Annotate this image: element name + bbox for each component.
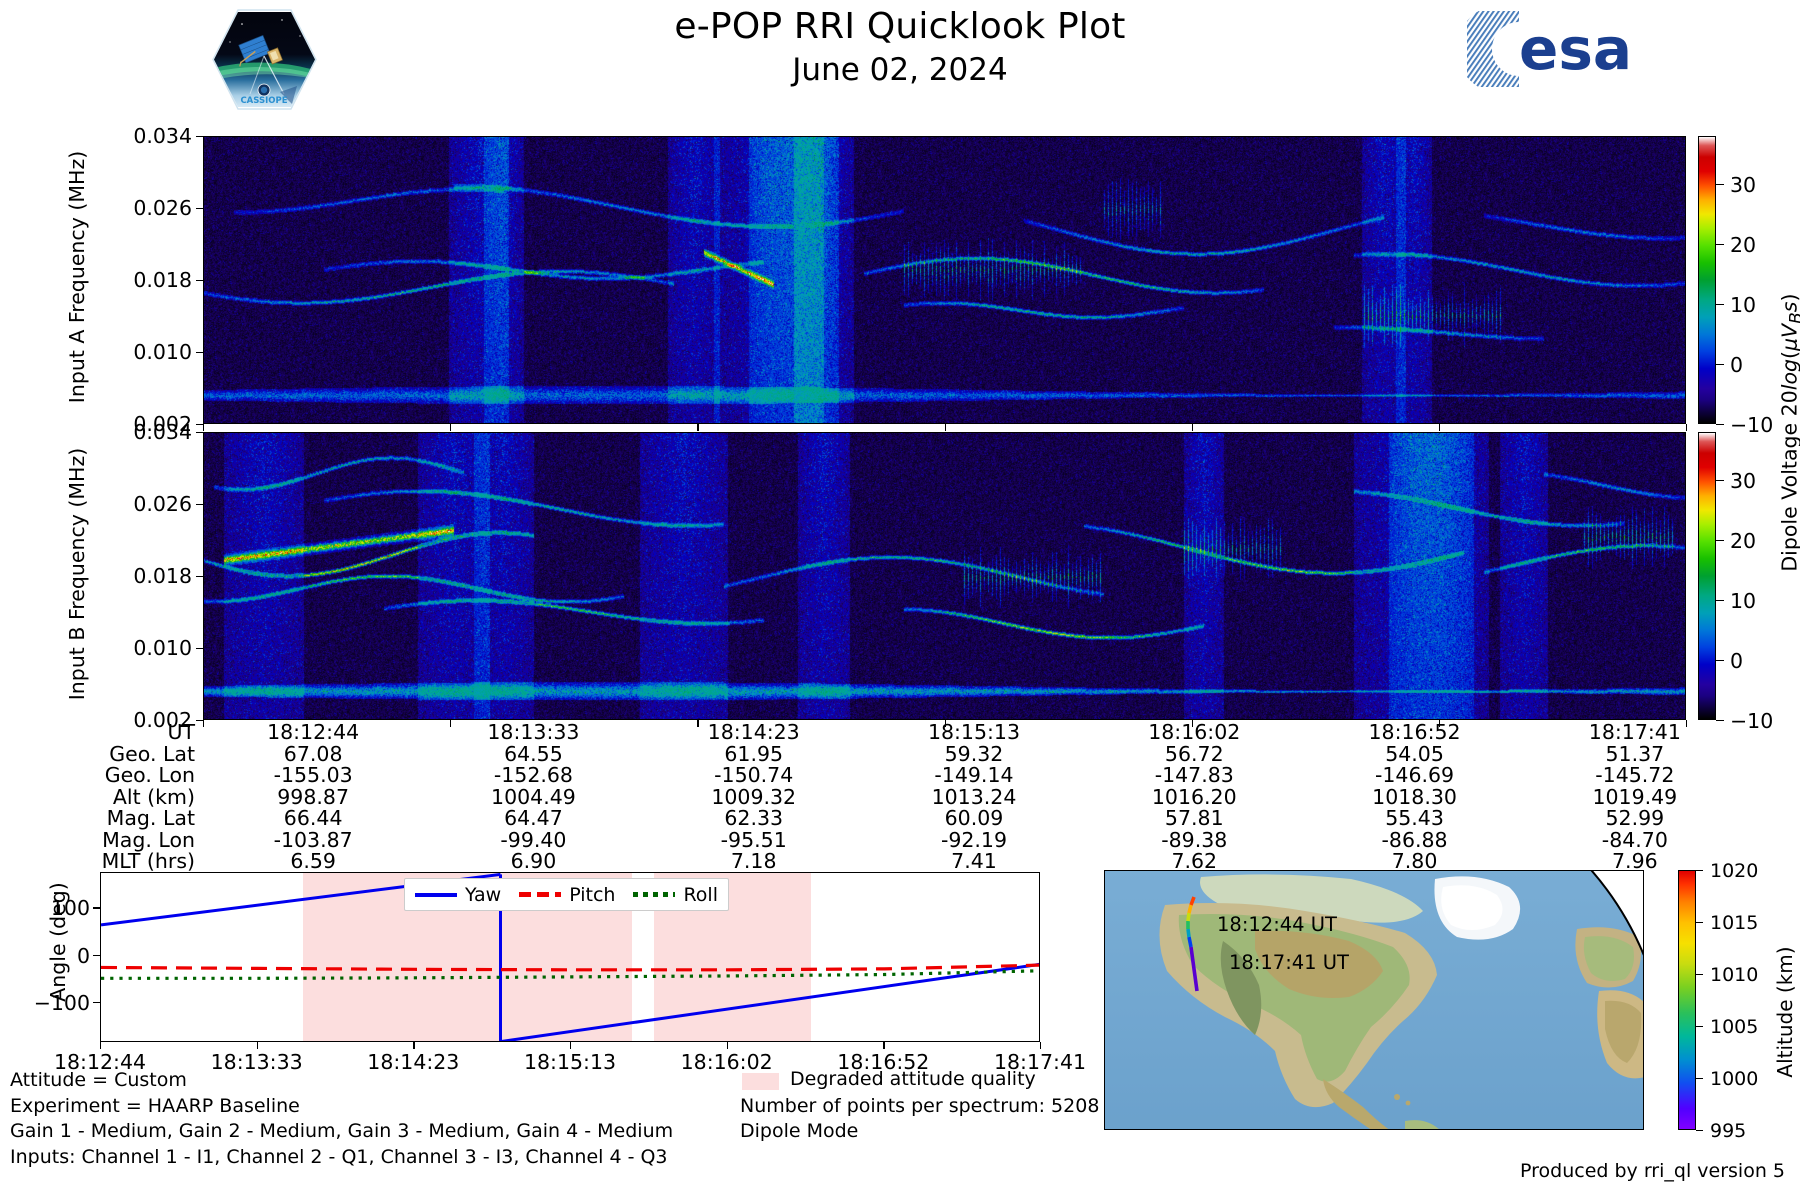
spec-a-xtickmark	[450, 424, 451, 431]
ephemeris-cell: 64.47	[423, 808, 643, 830]
ephemeris-row-label: MLT (hrs)	[0, 851, 203, 873]
colorbar-b-tick-mark	[1716, 720, 1724, 721]
spec-a-xtickmark	[1192, 424, 1193, 431]
ephemeris-cell: 1013.24	[864, 787, 1084, 809]
ephemeris-cell: 998.87	[203, 787, 423, 809]
ephemeris-row-label: Mag. Lon	[0, 830, 203, 852]
spec-a-ytickmark	[196, 352, 203, 353]
ephemeris-cell: 55.43	[1304, 808, 1524, 830]
legend-item-yaw: Yaw	[415, 884, 501, 906]
ephemeris-cell: 52.99	[1525, 808, 1745, 830]
colorbar-a-tick-mark	[1716, 364, 1724, 365]
ephemeris-cell: 66.44	[203, 808, 423, 830]
attitude-ytick-mark	[93, 1002, 100, 1003]
ephemeris-cell: -146.69	[1304, 765, 1524, 787]
attitude-xtick-label: 18:17:41	[970, 1050, 1110, 1074]
ephemeris-row: Mag. Lon-103.87-99.40-95.51-92.19-89.38-…	[0, 830, 1745, 852]
altitude-tick-mark	[1696, 974, 1703, 975]
footer-line: Number of points per spectrum: 5208	[740, 1094, 1099, 1120]
ephemeris-cell: -145.72	[1525, 765, 1745, 787]
attitude-ytick-mark	[93, 907, 100, 908]
ephemeris-cell: 18:13:33	[423, 722, 643, 744]
attitude-xtick-label: 18:12:44	[30, 1050, 170, 1074]
ephemeris-cell: 61.95	[644, 744, 864, 766]
input-a-spectrogram	[203, 136, 1686, 424]
ephemeris-cell: 18:15:13	[864, 722, 1084, 744]
spec-b-ytick: 0.018	[100, 566, 192, 587]
legend-label-pitch: Pitch	[569, 884, 615, 906]
footer-line: Experiment = HAARP Baseline	[10, 1094, 673, 1120]
footer-line: Dipole Mode	[740, 1119, 1099, 1145]
colorbar-a-tick-label: 20	[1730, 233, 1756, 257]
spec-b-xtickmark	[1439, 720, 1440, 727]
altitude-tick-label: 1020	[1710, 860, 1758, 882]
footer-left-text: Attitude = CustomExperiment = HAARP Base…	[10, 1068, 673, 1170]
colorbar-a-tick-mark	[1716, 424, 1724, 425]
spec-a-xtickmark	[1686, 424, 1687, 431]
colorbar-b-tick-label: −10	[1730, 709, 1773, 733]
spec-a-ytickmark	[196, 280, 203, 281]
ephemeris-row-label: Geo. Lat	[0, 744, 203, 766]
ephemeris-cell: -147.83	[1084, 765, 1304, 787]
attitude-ytick-label: −100	[10, 991, 90, 1015]
input-b-spectrogram	[203, 432, 1686, 720]
altitude-tick-label: 1005	[1710, 1016, 1758, 1038]
attitude-legend: YawPitchRoll	[404, 878, 729, 911]
attitude-xtick-mark	[570, 1042, 571, 1049]
spec-b-xtickmark	[203, 720, 204, 727]
spec-a-xtickmark	[1439, 424, 1440, 431]
spec-b-ytick: 0.034	[100, 422, 192, 443]
attitude-xtick-label: 18:13:33	[187, 1050, 327, 1074]
cassiope-logo-caption: CASSIOPE	[240, 96, 287, 106]
attitude-series-pitch	[101, 965, 1040, 970]
altitude-colorbar-label: Altitude (km)	[1773, 882, 1797, 1142]
ephemeris-row: Geo. Lat67.0864.5561.9559.3256.7254.0551…	[0, 744, 1745, 766]
attitude-xtick-mark	[257, 1042, 258, 1049]
ephemeris-cell: -92.19	[864, 830, 1084, 852]
colorbar-a-tick-mark	[1716, 244, 1724, 245]
spec-a-ytick: 0.018	[100, 270, 192, 291]
legend-swatch-yaw	[415, 893, 457, 897]
ephemeris-cell: 57.81	[1084, 808, 1304, 830]
colorbar-a-tick-label: 0	[1730, 353, 1743, 377]
spec-a-ytick: 0.010	[100, 342, 192, 363]
spec-b-ytickmark	[196, 432, 203, 433]
spec-b-ytickmark	[196, 648, 203, 649]
ephemeris-cell: -152.68	[423, 765, 643, 787]
legend-item-pitch: Pitch	[519, 884, 615, 906]
spec-a-ytickmark	[196, 424, 203, 425]
attitude-xtick-mark	[100, 1042, 101, 1049]
esa-logo-text: esa	[1519, 15, 1632, 83]
colorbar-b-tick-mark	[1716, 480, 1724, 481]
colorbar-input-b	[1698, 432, 1716, 720]
ephemeris-cell: 51.37	[1525, 744, 1745, 766]
attitude-ytick-mark	[93, 955, 100, 956]
ephemeris-row: Geo. Lon-155.03-152.68-150.74-149.14-147…	[0, 765, 1745, 787]
legend-label-yaw: Yaw	[465, 884, 501, 906]
produced-by-label: Produced by rri_ql version 5	[0, 1160, 1785, 1182]
spec-a-xtickmark	[945, 424, 946, 431]
attitude-ytick-label: 0	[10, 944, 90, 968]
attitude-xtick-label: 18:16:02	[657, 1050, 797, 1074]
spec-b-ytick: 0.002	[100, 710, 192, 731]
altitude-tick-label: 1010	[1710, 964, 1758, 986]
map-end-time-label: 18:17:41 UT	[1229, 951, 1349, 974]
ephemeris-row: Alt (km)998.871004.491009.321013.241016.…	[0, 787, 1745, 809]
ephemeris-cell: -103.87	[203, 830, 423, 852]
ephemeris-cell: -99.40	[423, 830, 643, 852]
spec-a-ytickmark	[196, 136, 203, 137]
colorbar-b-tick-mark	[1716, 600, 1724, 601]
footer-line: Gain 1 - Medium, Gain 2 - Medium, Gain 3…	[10, 1119, 673, 1145]
ground-track-map: 18:12:44 UT 18:17:41 UT	[1104, 870, 1644, 1130]
spec-b-ylabel: Input B Frequency (MHz)	[65, 444, 89, 704]
ephemeris-table: UT18:12:4418:13:3318:14:2318:15:1318:16:…	[0, 722, 1800, 873]
ephemeris-cell: 56.72	[1084, 744, 1304, 766]
ephemeris-cell: 18:16:52	[1304, 722, 1524, 744]
ephemeris-cell: 62.33	[644, 808, 864, 830]
altitude-colorbar	[1678, 870, 1696, 1130]
spec-a-ytick: 0.026	[100, 198, 192, 219]
attitude-xtick-mark	[413, 1042, 414, 1049]
attitude-xtick-label: 18:16:52	[813, 1050, 953, 1074]
ephemeris-cell: 59.32	[864, 744, 1084, 766]
ephemeris-cell: 64.55	[423, 744, 643, 766]
legend-item-roll: Roll	[633, 884, 718, 906]
attitude-xtick-mark	[727, 1042, 728, 1049]
ephemeris-cell: 1019.49	[1525, 787, 1745, 809]
spec-a-ylabel: Input A Frequency (MHz)	[65, 147, 89, 407]
ephemeris-cell: 60.09	[864, 808, 1084, 830]
spec-b-xtickmark	[1192, 720, 1193, 727]
ephemeris-cell: 7.41	[864, 851, 1084, 873]
ephemeris-cell: 1009.32	[644, 787, 864, 809]
altitude-tick-mark	[1696, 1130, 1703, 1131]
footer-right-text: Number of points per spectrum: 5208Dipol…	[740, 1068, 1099, 1145]
colorbar-label: Dipole Voltage 20log(μVBs)	[1777, 213, 1800, 653]
spec-b-ytickmark	[196, 576, 203, 577]
ephemeris-cell: 67.08	[203, 744, 423, 766]
spec-a-xtickmark	[697, 424, 698, 431]
ephemeris-cell: 6.59	[203, 851, 423, 873]
ephemeris-cell: 1004.49	[423, 787, 643, 809]
attitude-ylabel: Angle (deg)	[46, 832, 70, 1052]
spec-b-xtickmark	[450, 720, 451, 727]
ephemeris-row: UT18:12:4418:13:3318:14:2318:15:1318:16:…	[0, 722, 1745, 744]
ephemeris-cell: 18:12:44	[203, 722, 423, 744]
ephemeris-row-label: Mag. Lat	[0, 808, 203, 830]
attitude-xtick-label: 18:15:13	[500, 1050, 640, 1074]
ephemeris-cell: 54.05	[1304, 744, 1524, 766]
altitude-tick-mark	[1696, 1026, 1703, 1027]
ephemeris-cell: 1018.30	[1304, 787, 1524, 809]
ephemeris-row-label: Geo. Lon	[0, 765, 203, 787]
altitude-tick-mark	[1696, 922, 1703, 923]
colorbar-b-tick-label: 10	[1730, 589, 1756, 613]
attitude-series-roll	[101, 971, 1040, 979]
map-start-time-label: 18:12:44 UT	[1217, 913, 1337, 936]
ephemeris-cell: -149.14	[864, 765, 1084, 787]
ephemeris-cell: 18:16:02	[1084, 722, 1304, 744]
ephemeris-cell: -86.88	[1304, 830, 1524, 852]
ephemeris-cell: 6.90	[423, 851, 643, 873]
spec-a-ytick: 0.034	[100, 126, 192, 147]
attitude-xtick-label: 18:14:23	[343, 1050, 483, 1074]
spec-b-ytick: 0.010	[100, 638, 192, 659]
altitude-tick-label: 995	[1710, 1120, 1746, 1142]
spec-a-xtickmark	[203, 424, 204, 431]
ephemeris-cell: -155.03	[203, 765, 423, 787]
spec-b-ytickmark	[196, 504, 203, 505]
ephemeris-cell: -89.38	[1084, 830, 1304, 852]
spec-b-ytick: 0.026	[100, 494, 192, 515]
colorbar-b-tick-mark	[1716, 540, 1724, 541]
colorbar-input-a	[1698, 136, 1716, 424]
spec-b-xtickmark	[697, 720, 698, 727]
attitude-xtick-mark	[1040, 1042, 1041, 1049]
ephemeris-cell: -84.70	[1525, 830, 1745, 852]
altitude-tick-mark	[1696, 870, 1703, 871]
altitude-tick-label: 1000	[1710, 1068, 1758, 1090]
colorbar-b-tick-label: 0	[1730, 649, 1743, 673]
spec-b-ytickmark	[196, 720, 203, 721]
ephemeris-row-label: Alt (km)	[0, 787, 203, 809]
legend-label-roll: Roll	[683, 884, 718, 906]
colorbar-a-tick-label: 30	[1730, 173, 1756, 197]
spec-a-ytickmark	[196, 208, 203, 209]
ephemeris-row: Mag. Lat66.4464.4762.3360.0957.8155.4352…	[0, 808, 1745, 830]
attitude-ytick-label: 100	[10, 896, 90, 920]
colorbar-a-tick-mark	[1716, 304, 1724, 305]
ephemeris-cell: -150.74	[644, 765, 864, 787]
colorbar-b-tick-label: 30	[1730, 469, 1756, 493]
altitude-tick-mark	[1696, 1078, 1703, 1079]
ephemeris-cell: 7.18	[644, 851, 864, 873]
esa-logo: esa	[1467, 11, 1705, 87]
colorbar-a-tick-label: 10	[1730, 293, 1756, 317]
ephemeris-cell: 18:17:41	[1525, 722, 1745, 744]
attitude-xtick-mark	[883, 1042, 884, 1049]
spec-b-xtickmark	[1686, 720, 1687, 727]
spec-b-xtickmark	[945, 720, 946, 727]
altitude-tick-label: 1015	[1710, 912, 1758, 934]
colorbar-a-tick-label: −10	[1730, 413, 1773, 437]
colorbar-a-tick-mark	[1716, 184, 1724, 185]
colorbar-b-tick-label: 20	[1730, 529, 1756, 553]
colorbar-b-tick-mark	[1716, 660, 1724, 661]
ephemeris-cell: 18:14:23	[644, 722, 864, 744]
ephemeris-cell: 1016.20	[1084, 787, 1304, 809]
ephemeris-cell: -95.51	[644, 830, 864, 852]
legend-swatch-roll	[633, 892, 675, 897]
legend-swatch-pitch	[519, 892, 561, 897]
